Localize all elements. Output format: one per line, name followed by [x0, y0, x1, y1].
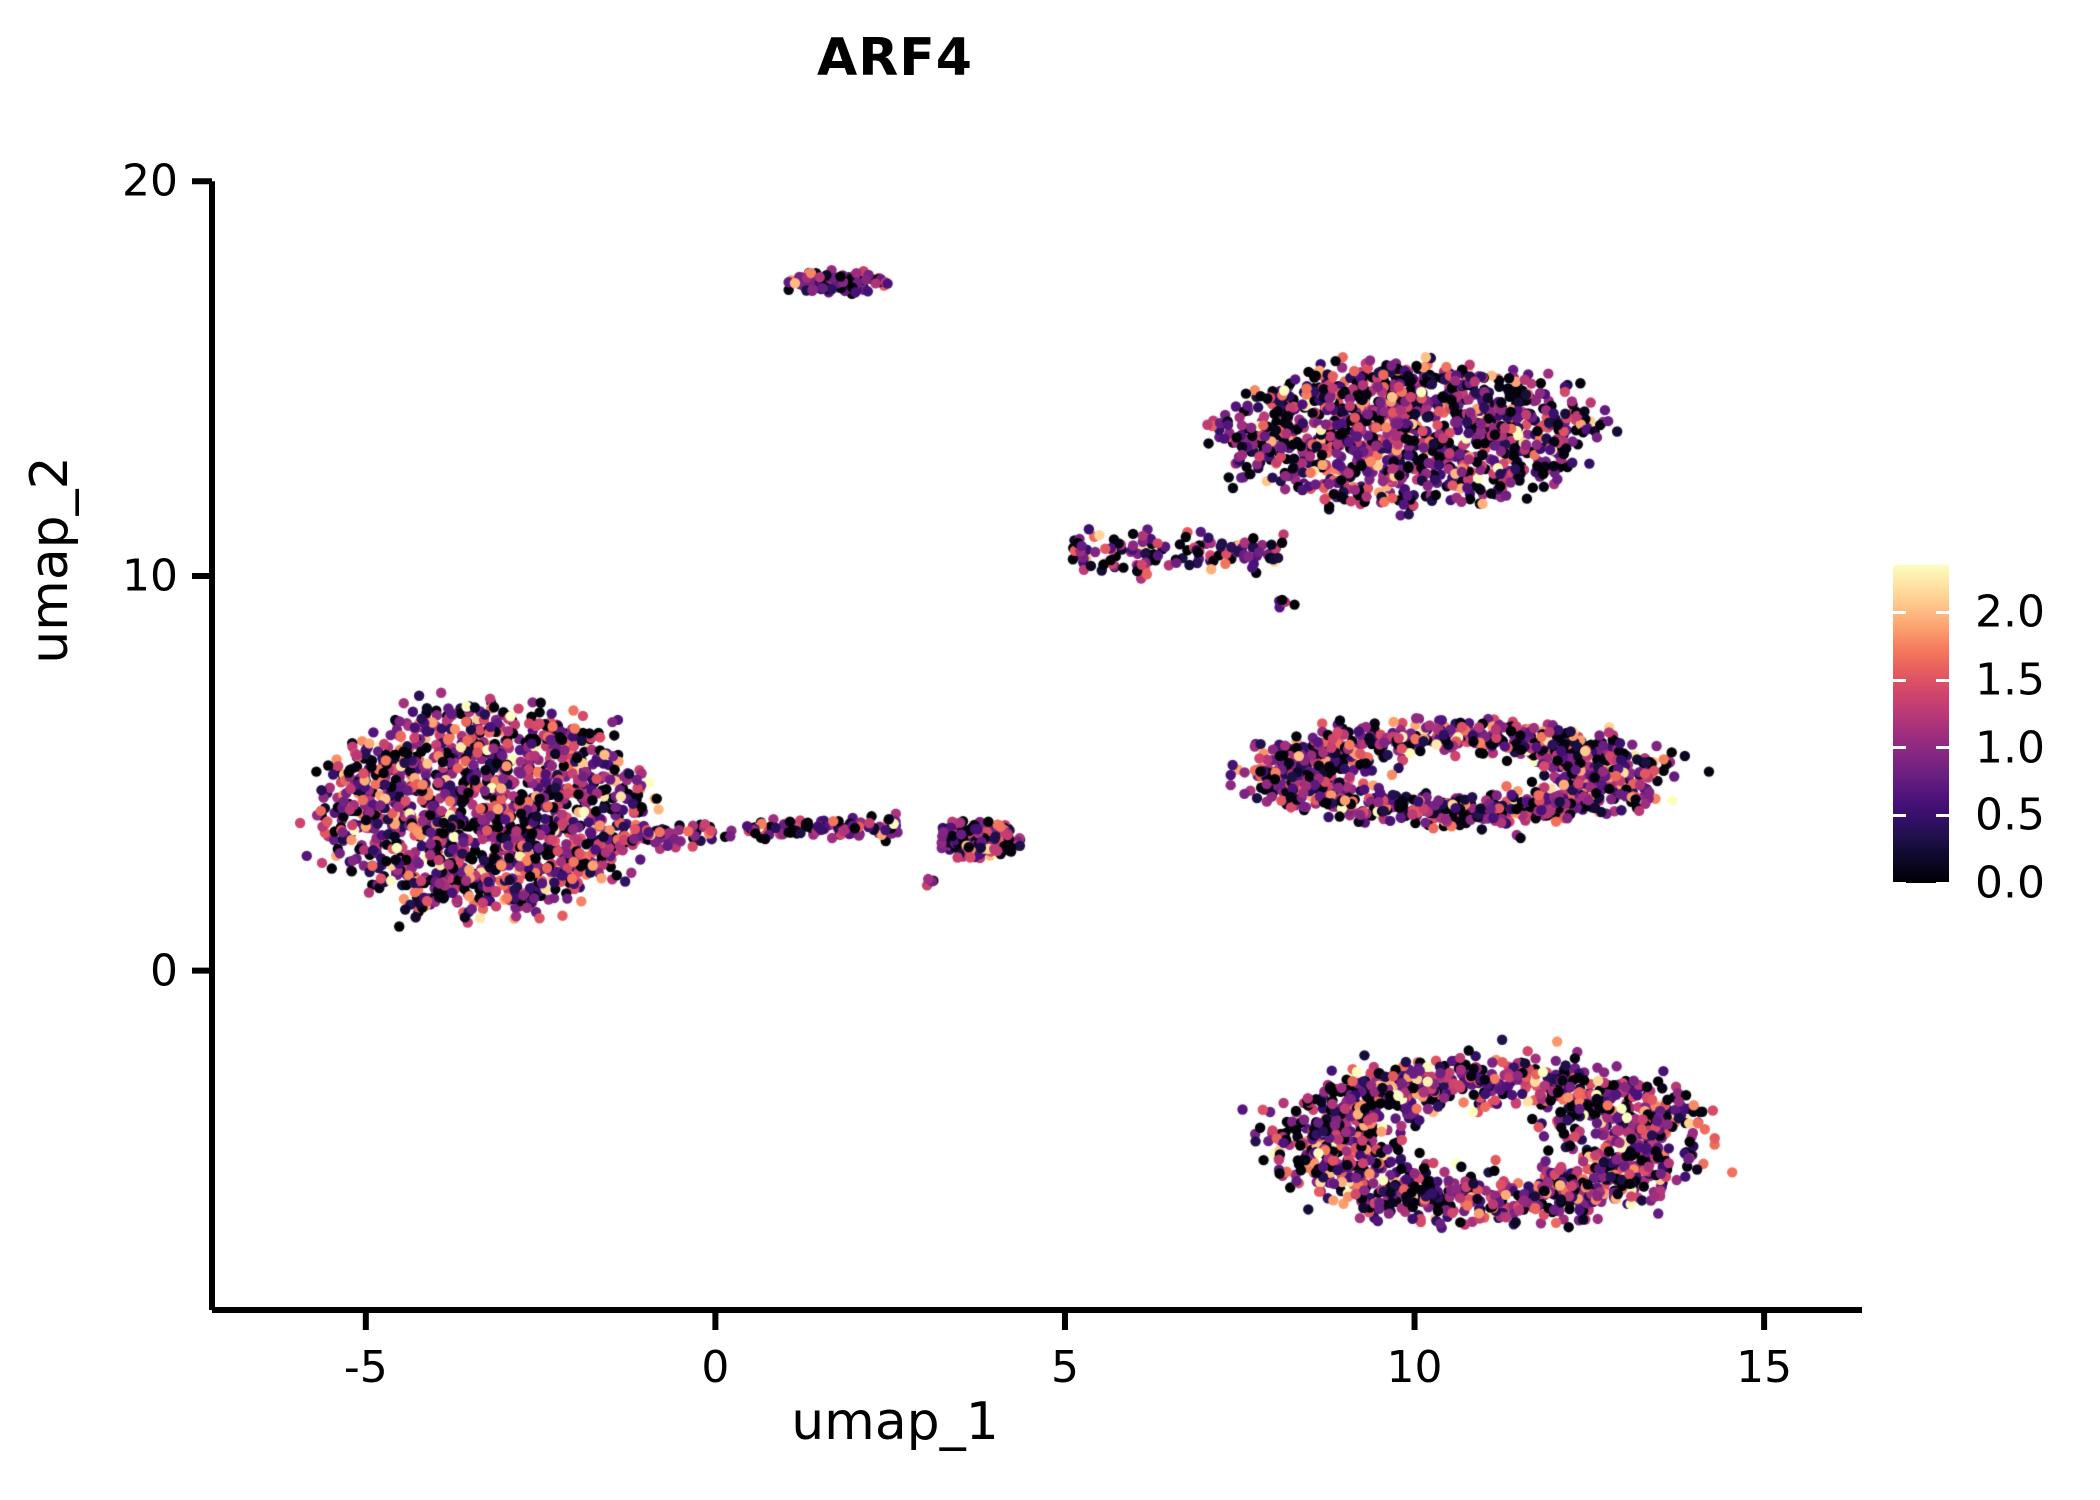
colorbar-tick-label: 1.5	[1975, 655, 2045, 706]
x-axis-label: umap_1	[0, 1392, 1790, 1452]
x-tick-label: 15	[1736, 1342, 1792, 1393]
umap-figure-panel: ARF4 01020 -5051015 umap_1 umap_2 0.00.5…	[0, 0, 2100, 1500]
colorbar-tick-mark	[1893, 814, 1906, 817]
page-title: ARF4	[0, 28, 1790, 88]
y-tick-label: 20	[0, 156, 178, 207]
x-tick-label: 5	[1051, 1342, 1079, 1393]
colorbar-tick-mark	[1893, 882, 1906, 885]
colorbar-tick-mark	[1936, 679, 1949, 682]
colorbar-tick-mark	[1893, 679, 1906, 682]
x-tick-label: 0	[701, 1342, 729, 1393]
colorbar	[1893, 565, 1949, 883]
colorbar-tick-mark	[1893, 746, 1906, 749]
colorbar-tick-label: 0.0	[1975, 858, 2045, 909]
colorbar-tick-label: 0.5	[1975, 790, 2045, 841]
y-tick-label: 0	[0, 945, 178, 996]
colorbar-tick-mark	[1936, 882, 1949, 885]
colorbar-tick-label: 1.0	[1975, 722, 2045, 773]
colorbar-tick-mark	[1936, 611, 1949, 614]
colorbar-tick-mark	[1893, 611, 1906, 614]
x-tick-label: 10	[1387, 1342, 1443, 1393]
colorbar-tick-mark	[1936, 814, 1949, 817]
colorbar-tick-label: 2.0	[1975, 587, 2045, 638]
y-axis-label: umap_2	[20, 350, 80, 770]
scatter-plot-canvas	[212, 130, 1862, 1310]
x-tick-label: -5	[344, 1342, 388, 1393]
colorbar-tick-mark	[1936, 746, 1949, 749]
